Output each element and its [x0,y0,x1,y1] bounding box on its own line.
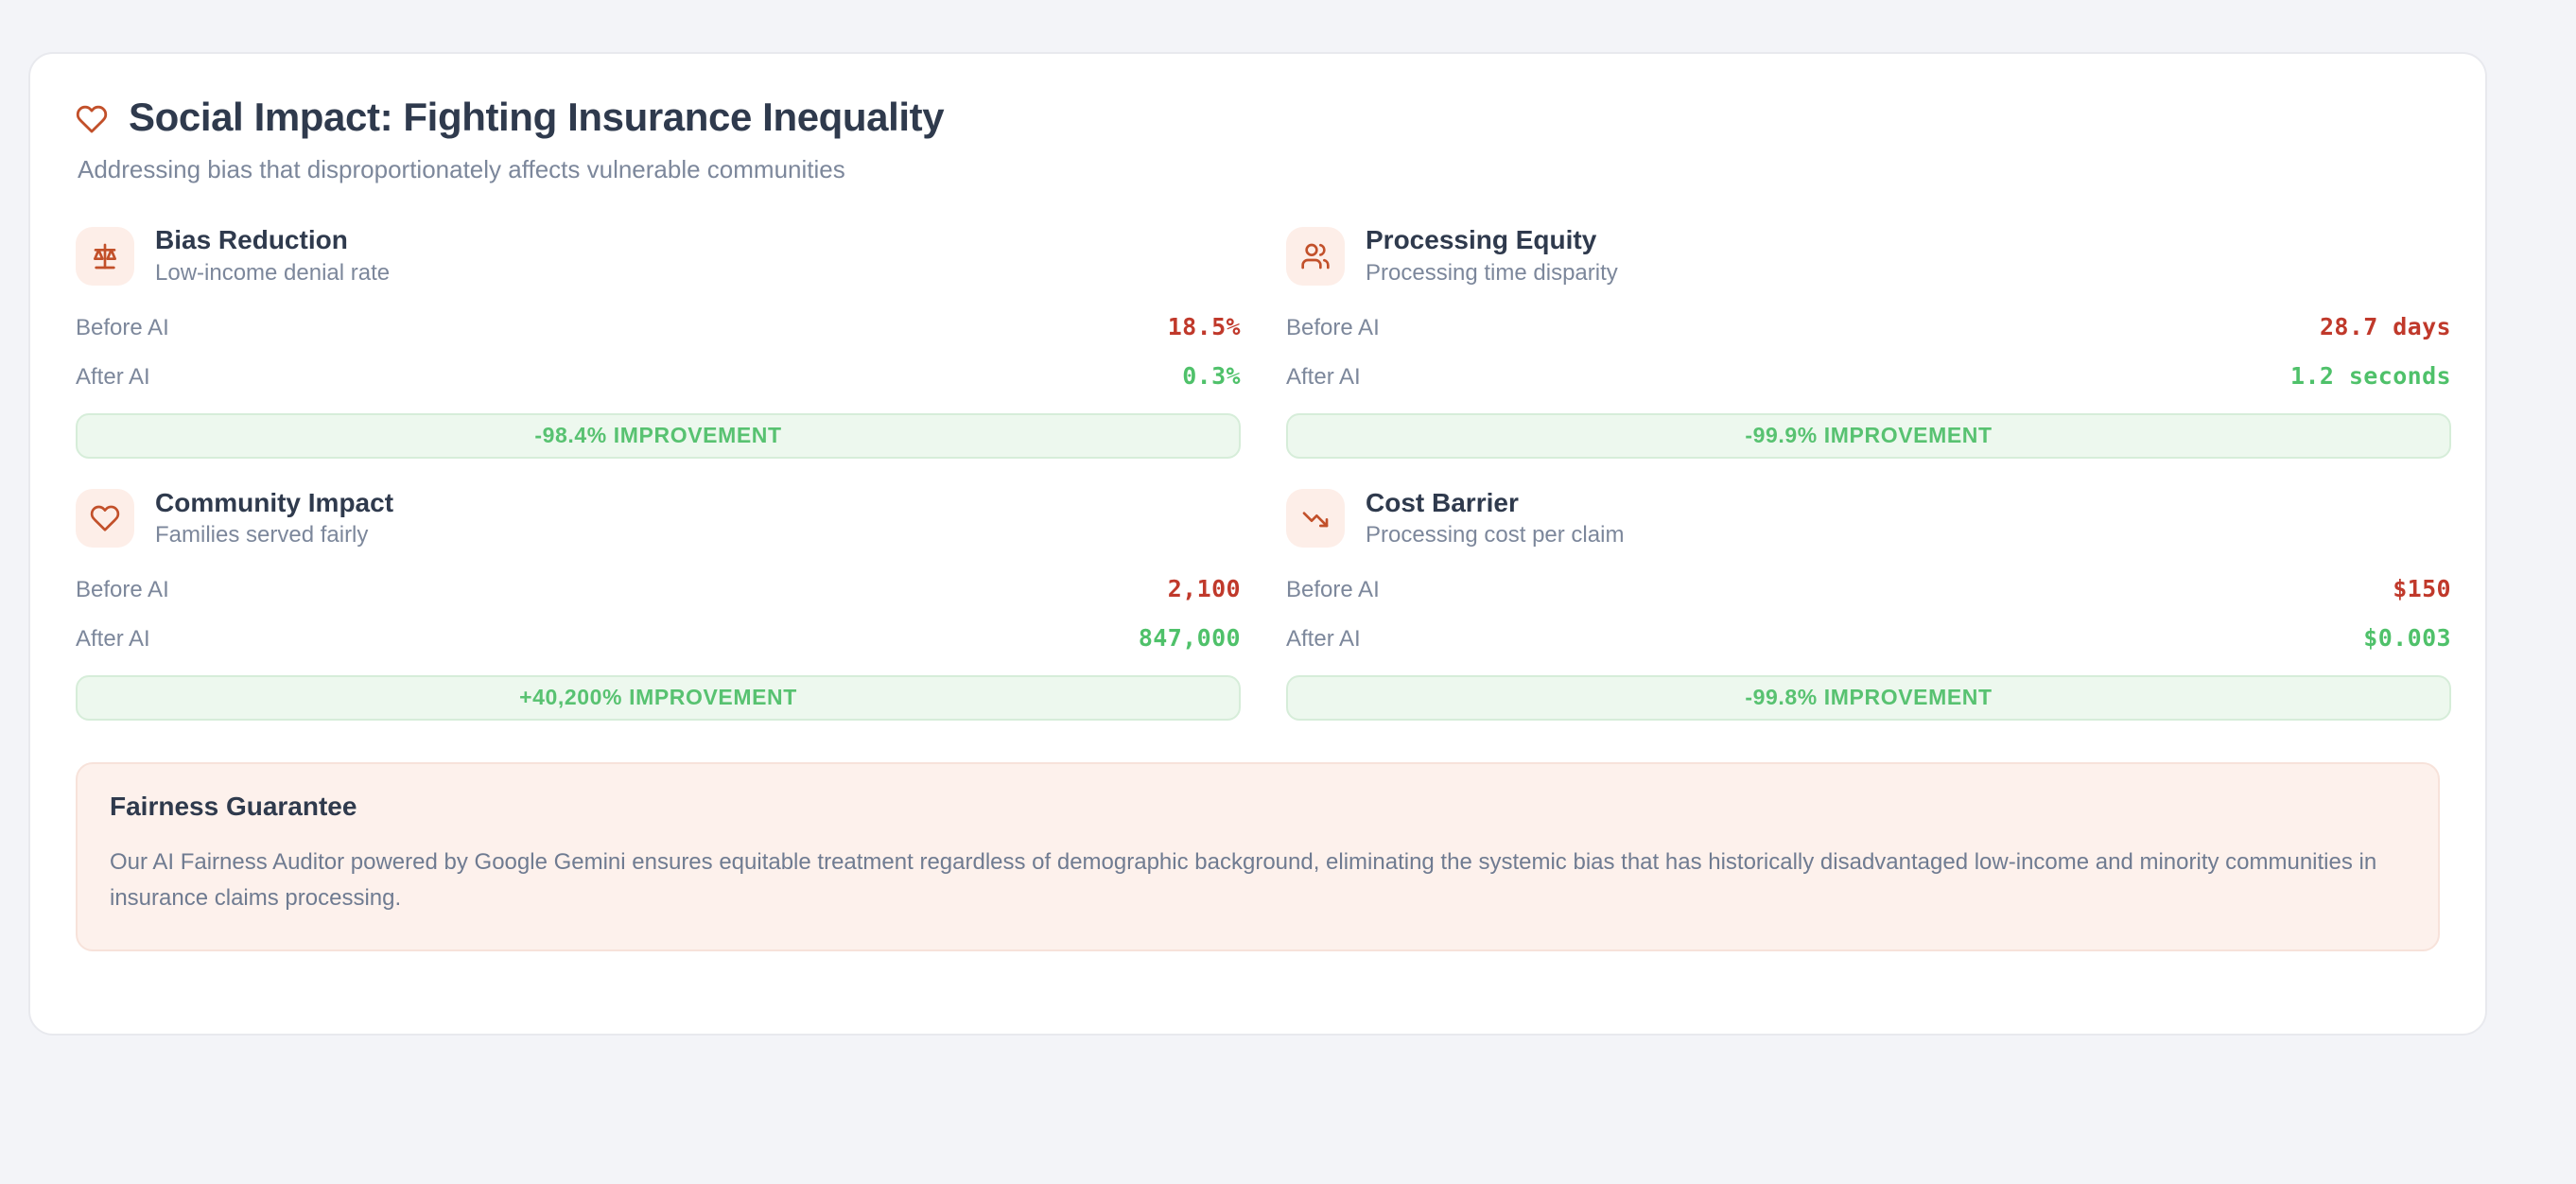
improvement-label: +40,200% IMPROVEMENT [519,685,797,710]
improvement-label: -98.4% IMPROVEMENT [534,423,781,448]
page-title: Social Impact: Fighting Insurance Inequa… [129,96,944,139]
metric-name: Bias Reduction [155,226,390,255]
metric-card-bias-reduction: Bias Reduction Low-income denial rate Be… [76,226,1241,458]
improvement-label: -99.8% IMPROVEMENT [1745,685,1992,710]
stat-value-after: $0.003 [2363,624,2451,652]
stat-value-before: 18.5% [1168,313,1241,340]
stat-row-after: After AI 1.2 seconds [1286,362,2451,391]
stat-row-after: After AI $0.003 [1286,624,2451,653]
metric-description: Families served fairly [155,523,393,548]
stat-value-before: 2,100 [1168,575,1241,602]
metric-description: Low-income denial rate [155,261,390,286]
stat-row-before: Before AI 28.7 days [1286,313,2451,341]
metric-name: Community Impact [155,489,393,518]
metrics-grid: Bias Reduction Low-income denial rate Be… [76,226,2440,720]
stat-row-after: After AI 847,000 [76,624,1241,653]
stat-label-before: Before AI [76,577,169,603]
panel-title-row: Social Impact: Fighting Insurance Inequa… [76,96,944,139]
stat-label-after: After AI [1286,626,1361,653]
improvement-badge: -98.4% IMPROVEMENT [76,413,1241,459]
stat-value-after: 847,000 [1139,624,1241,652]
metric-card-processing-equity: Processing Equity Processing time dispar… [1286,226,2451,458]
stat-row-before: Before AI $150 [1286,575,2451,603]
fairness-guarantee-title: Fairness Guarantee [110,792,2406,822]
stat-label-after: After AI [1286,364,1361,391]
metric-card-community-impact: Community Impact Families served fairly … [76,489,1241,721]
improvement-label: -99.9% IMPROVEMENT [1745,423,1992,448]
improvement-badge: -99.8% IMPROVEMENT [1286,675,2451,721]
metric-card-cost-barrier: Cost Barrier Processing cost per claim B… [1286,489,2451,721]
trending-down-icon [1286,489,1345,548]
stat-label-before: Before AI [76,315,169,341]
improvement-badge: -99.9% IMPROVEMENT [1286,413,2451,459]
stat-value-before: 28.7 days [2320,313,2451,340]
panel-subtitle: Addressing bias that disproportionately … [78,155,944,184]
stat-value-before: $150 [2393,575,2451,602]
stat-label-after: After AI [76,364,150,391]
users-icon [1286,227,1345,286]
metric-name: Processing Equity [1366,226,1618,255]
stat-label-after: After AI [76,626,150,653]
stat-value-after: 0.3% [1182,362,1241,390]
metric-header: Cost Barrier Processing cost per claim [1286,489,2451,548]
fairness-guarantee-panel: Fairness Guarantee Our AI Fairness Audit… [76,762,2440,952]
stat-row-before: Before AI 2,100 [76,575,1241,603]
heart-icon [76,103,108,135]
stat-row-before: Before AI 18.5% [76,313,1241,341]
stat-label-before: Before AI [1286,577,1380,603]
stat-label-before: Before AI [1286,315,1380,341]
metric-description: Processing time disparity [1366,261,1618,286]
stat-value-after: 1.2 seconds [2290,362,2451,390]
metric-header: Processing Equity Processing time dispar… [1286,226,2451,286]
metric-header: Bias Reduction Low-income denial rate [76,226,1241,286]
metric-description: Processing cost per claim [1366,523,1624,548]
improvement-badge: +40,200% IMPROVEMENT [76,675,1241,721]
heart-icon [76,489,134,548]
stat-row-after: After AI 0.3% [76,362,1241,391]
fairness-guarantee-body: Our AI Fairness Auditor powered by Googl… [110,844,2406,918]
metric-header: Community Impact Families served fairly [76,489,1241,548]
metric-name: Cost Barrier [1366,489,1624,518]
social-impact-panel: Social Impact: Fighting Insurance Inequa… [28,52,2487,1036]
panel-header: Social Impact: Fighting Insurance Inequa… [76,96,2440,184]
scales-balance-icon [76,227,134,286]
